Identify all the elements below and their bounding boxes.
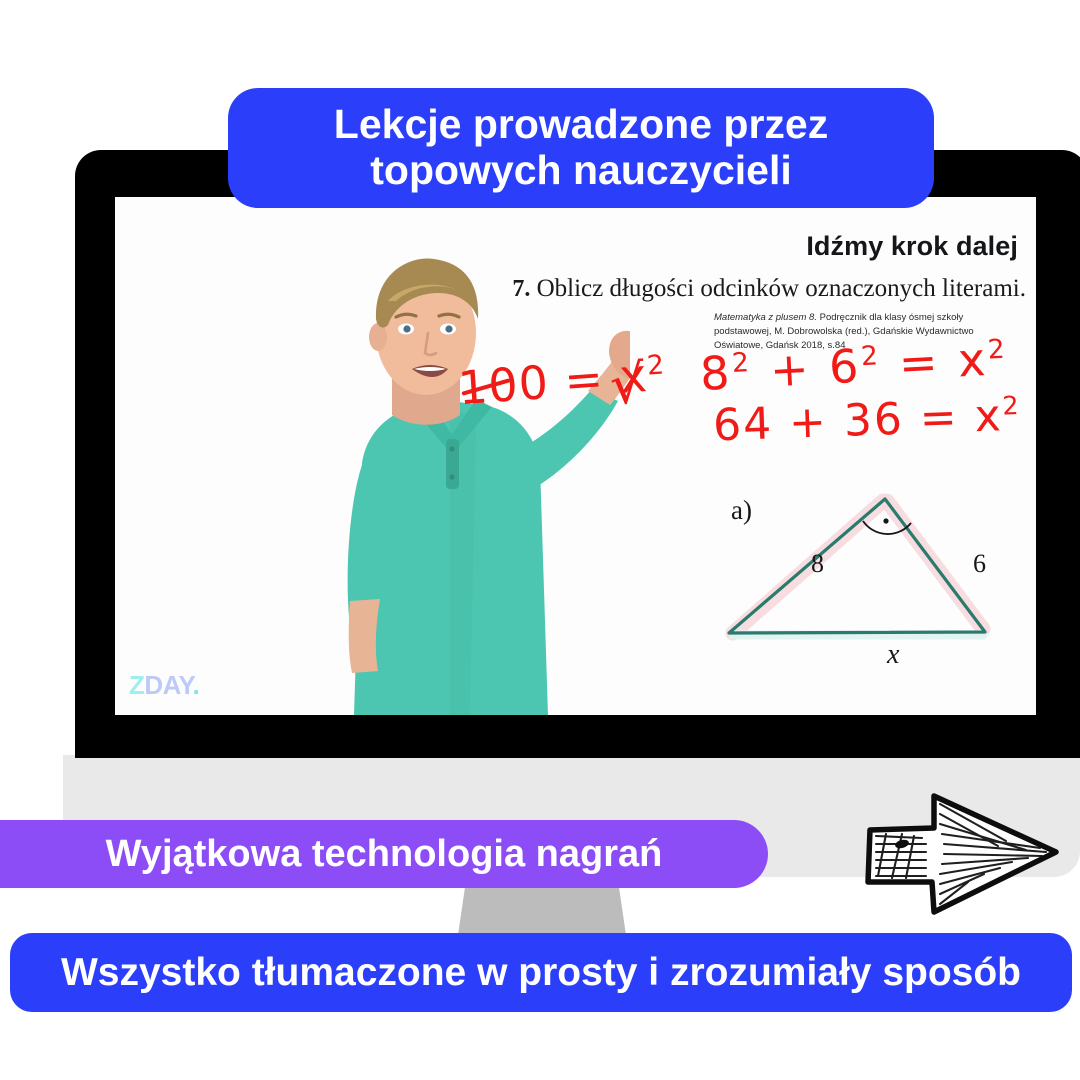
banner-top-headline: Lekcje prowadzone przez topowych nauczyc… bbox=[228, 88, 934, 208]
zday-watermark-logo: ZDAY. bbox=[129, 670, 199, 701]
exercise-statement: 7. Oblicz długości odcinków oznaczonych … bbox=[512, 275, 1026, 303]
handwriting-crossed-exp: 2 bbox=[646, 349, 666, 381]
zday-logo-day: DAY bbox=[144, 670, 192, 700]
banner-middle-headline: Wyjątkowa technologia nagrań bbox=[0, 820, 768, 888]
handwriting-pyth-b: 6 bbox=[828, 339, 863, 395]
exercise-text: Oblicz długości odcinków oznaczonych lit… bbox=[537, 275, 1026, 302]
board-heading: Idźmy krok dalej bbox=[806, 231, 1018, 262]
citation-title: Matematyka z plusem 8. bbox=[714, 312, 817, 323]
figure-side-right: 6 bbox=[973, 549, 986, 579]
figure-base-label: x bbox=[887, 639, 899, 671]
exercise-number: 7. bbox=[512, 276, 530, 302]
whiteboard-scene: Idźmy krok dalej 7. Oblicz długości odci… bbox=[115, 197, 1036, 715]
handwriting-sqrt-symbol: √ bbox=[608, 352, 646, 417]
triangle-figure: a) 8 6 x bbox=[715, 477, 1036, 677]
hand-drawn-arrow-icon bbox=[856, 786, 1064, 920]
poster-canvas: Idźmy krok dalej 7. Oblicz długości odci… bbox=[0, 0, 1080, 1080]
monitor-screen[interactable]: Idźmy krok dalej 7. Oblicz długości odci… bbox=[115, 197, 1036, 715]
teacher-figure bbox=[300, 249, 630, 715]
handwriting-pyth-a: 8 bbox=[699, 345, 734, 401]
zday-logo-dot: . bbox=[193, 670, 200, 700]
handwriting-pyth-c: x bbox=[957, 332, 990, 388]
zday-logo-z: Z bbox=[129, 670, 144, 700]
figure-side-left: 8 bbox=[811, 549, 824, 579]
triangle-svg bbox=[715, 477, 1036, 677]
banner-bottom-headline: Wszystko tłumaczone w prosty i zrozumiał… bbox=[10, 933, 1072, 1012]
handwriting-sum-line: 64 + 36 = x2 bbox=[712, 390, 1022, 452]
